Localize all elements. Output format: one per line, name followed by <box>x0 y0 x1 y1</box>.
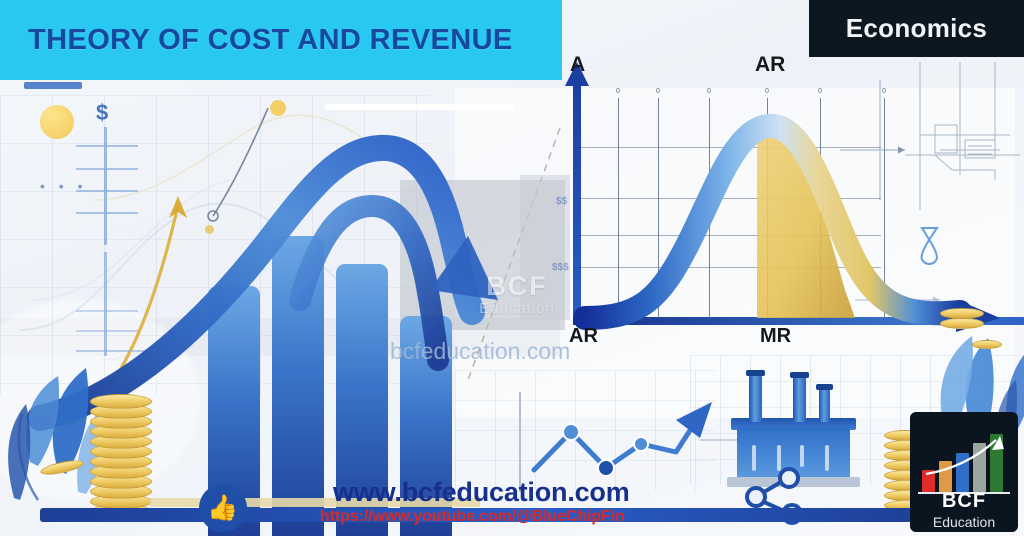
chart-gridline-v-3 <box>709 98 710 318</box>
decorative-white-bar <box>325 104 515 110</box>
subject-badge-label: Economics <box>846 13 987 44</box>
chart-gridline-v-5 <box>820 98 821 318</box>
decor-dots: • • • <box>40 178 87 194</box>
decor-hline-7 <box>76 350 148 352</box>
coin-right-3 <box>972 340 1002 349</box>
coin-right-2 <box>940 318 984 329</box>
logo-subtitle: Education <box>910 514 1018 530</box>
test-tube-2 <box>793 376 806 422</box>
website-url[interactable]: www.bcfeducation.com <box>333 477 630 508</box>
chart-gridline-v-1 <box>618 98 619 318</box>
decor-hline-2 <box>76 168 138 170</box>
test-tube-cap-1 <box>746 370 765 376</box>
test-tube-cap-3 <box>816 384 833 390</box>
chart-label-AR-top: AR <box>755 53 785 77</box>
decor-hline-6 <box>76 330 138 332</box>
dollar-symbol: $ <box>96 100 108 126</box>
logo-growth-arrow <box>920 434 1008 492</box>
gold-circle-tiny <box>205 225 214 234</box>
decor-hline-5 <box>76 310 138 312</box>
decor-hline-4 <box>76 212 138 214</box>
chart-gridline-v-4 <box>767 98 768 318</box>
decor-hline-1 <box>76 145 138 147</box>
rack-slot-4 <box>825 445 829 471</box>
chart-tick-4: 0 <box>765 88 769 95</box>
faint-value-label-1: $$ <box>556 196 567 207</box>
logo-bar-chart <box>920 434 1008 492</box>
chart-gridline-h-1 <box>581 147 881 148</box>
watermark-bcf-text: BCF <box>486 271 548 302</box>
watermark-education-text: Education <box>479 300 555 317</box>
chart-gridline-h-3 <box>581 235 881 236</box>
rack-slot-2 <box>777 445 781 471</box>
thumbnail-canvas: $ • • • <box>0 0 1024 536</box>
title-underline <box>24 82 82 89</box>
rack-slot-1 <box>752 445 756 471</box>
watermark-site-text: bcfeducation.com <box>390 338 570 365</box>
chart-label-A: A <box>570 53 585 77</box>
chart-label-MR: MR <box>760 325 791 348</box>
test-tube-3 <box>819 388 830 422</box>
background-grid-mid <box>455 370 715 490</box>
chart-gridline-v-6 <box>884 98 885 318</box>
chart-gridline-v-2 <box>658 98 659 318</box>
youtube-url[interactable]: https://www.youtube.com/@BlueChipFin <box>320 508 625 526</box>
bcf-logo[interactable]: BCF Education <box>910 412 1018 532</box>
bar-2 <box>272 236 324 536</box>
chart-gridline-h-4 <box>581 267 881 268</box>
chart-tick-3: 0 <box>707 88 711 95</box>
title-banner: THEORY OF COST AND REVENUE <box>0 0 562 80</box>
chart-tick-1: 0 <box>616 88 620 95</box>
thumbs-up-icon[interactable]: 👍 <box>199 484 247 532</box>
coin-stack-left <box>90 398 156 518</box>
chart-gridline-h-2 <box>581 198 881 199</box>
gold-circle-small <box>270 100 286 116</box>
watermark-logo: BCF Education <box>452 258 582 330</box>
chart-tick-2: 0 <box>656 88 660 95</box>
gold-circle-large <box>40 105 74 139</box>
decor-vertical-axis-2 <box>104 252 107 356</box>
logo-name: BCF <box>910 490 1018 513</box>
rack-foot <box>727 477 860 487</box>
rack-slot-3 <box>800 445 804 467</box>
test-tube-1 <box>749 374 762 422</box>
chart-tick-5: 0 <box>818 88 822 95</box>
test-tube-cap-2 <box>790 372 809 378</box>
chart-tick-6: 0 <box>882 88 886 95</box>
page-title: THEORY OF COST AND REVENUE <box>0 24 513 57</box>
subject-badge: Economics <box>809 0 1024 57</box>
